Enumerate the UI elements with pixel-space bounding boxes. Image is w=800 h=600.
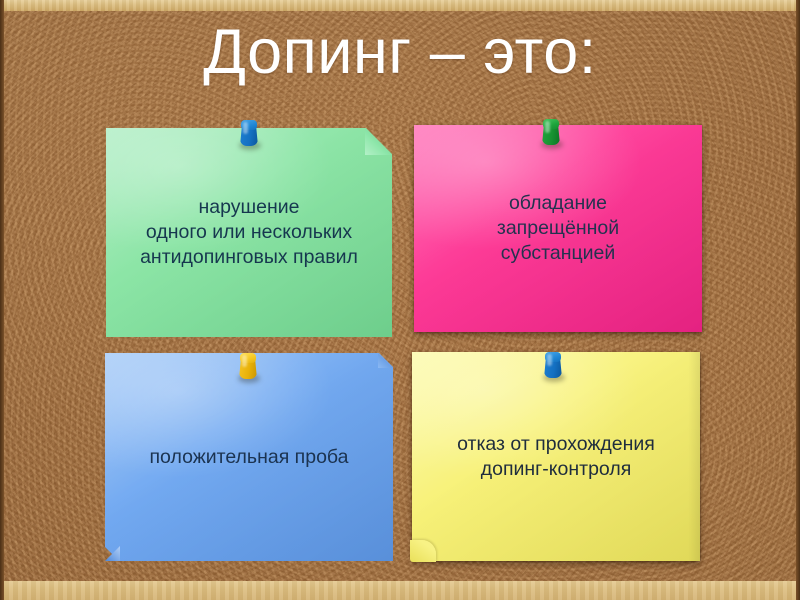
corkboard-slide: Допинг – это: нарушение одного или неско… <box>0 0 800 600</box>
pushpin-blue-icon[interactable] <box>540 351 566 385</box>
pushpin-yellow-icon[interactable] <box>235 352 261 386</box>
pushpin-highlight <box>547 354 552 366</box>
pushpin-blue-icon[interactable] <box>236 119 262 153</box>
sticky-note-possession[interactable]: обладание запрещённой субстанцией <box>414 125 702 332</box>
pushpin-highlight <box>545 121 550 133</box>
pushpin-green-icon[interactable] <box>538 118 564 152</box>
wooden-frame-top <box>0 0 800 11</box>
wooden-frame-right <box>796 0 800 600</box>
sticky-note-violation[interactable]: нарушение одного или нескольких антидопи… <box>106 128 392 337</box>
sticky-note-text: отказ от прохождения допинг-контроля <box>447 432 665 482</box>
pushpin-highlight <box>242 355 247 367</box>
pushpin-highlight <box>243 122 248 134</box>
note-corner-fold-icon <box>378 353 393 368</box>
sticky-notes-group: нарушение одного или нескольких антидопи… <box>0 0 800 600</box>
sticky-note-text: положительная проба <box>140 445 359 470</box>
sticky-note-text: обладание запрещённой субстанцией <box>487 191 629 266</box>
page-title: Допинг – это: <box>0 16 800 88</box>
sticky-note-text: нарушение одного или нескольких антидопи… <box>130 195 368 270</box>
wooden-frame-bottom <box>0 581 800 600</box>
wooden-frame-left <box>0 0 4 600</box>
